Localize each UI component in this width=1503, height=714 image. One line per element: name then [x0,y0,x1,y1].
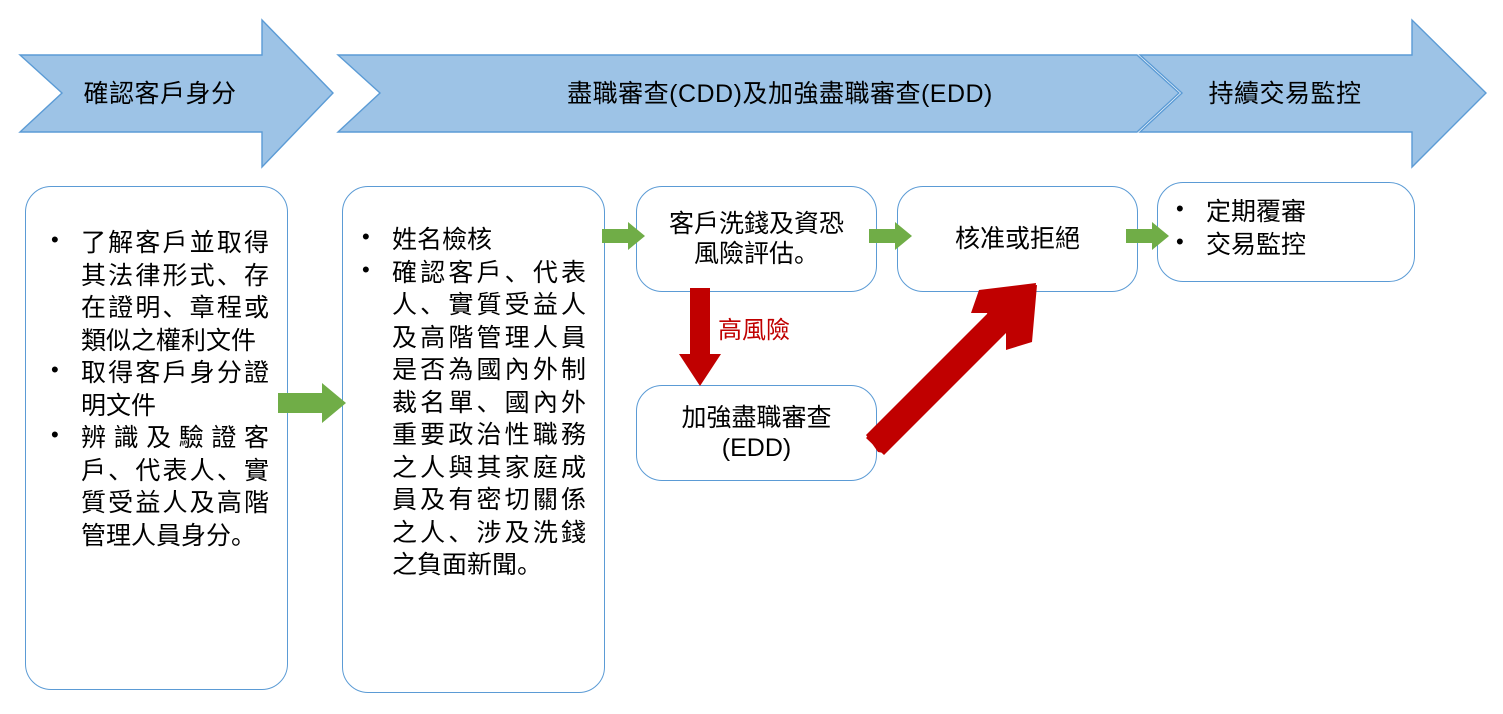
approval-text: 核准或拒絕 [955,224,1080,255]
list-item: 取得客戶身分證明文件 [47,357,269,422]
chevron-label-1: 確認客戶身分 [40,80,280,109]
edd-text: 加強盡職審查 (EDD) [681,403,831,464]
box-edd: 加強盡職審查 (EDD) [636,385,877,481]
screening-bullet-list: 姓名檢核 確認客戶、代表人、實質受益人及高階管理人員是否為國內外制裁名單、國內外… [358,224,586,582]
list-item: 姓名檢核 [358,224,586,257]
list-item: 了解客戶並取得其法律形式、存在證明、章程或類似之權利文件 [47,227,269,357]
green-arrow-screening-to-risk-icon [602,222,646,250]
list-item: 交易監控 [1172,229,1407,262]
list-item: 定期覆審 [1172,196,1407,229]
diagram-canvas: 確認客戶身分 盡職審查(CDD)及加強盡職審查(EDD) 持續交易監控 了解客戶… [0,0,1503,714]
list-item: 辨識及驗證客戶、代表人、實質受益人及高階管理人員身分。 [47,422,269,552]
green-arrow-approval-to-monitoring-icon [1126,222,1170,250]
high-risk-label: 高風險 [718,318,790,344]
box-risk-assessment: 客戶洗錢及資恐 風險評估。 [636,186,877,292]
box-approval: 核准或拒絕 [897,186,1138,292]
red-diagonal-arrow-edd-to-approval-icon [866,280,1046,460]
green-arrow-risk-to-approval-icon [869,222,913,250]
chevron-label-2: 盡職審查(CDD)及加強盡職審查(EDD) [400,80,1160,109]
chevron-label-3: 持續交易監控 [1160,80,1410,109]
risk-assessment-text: 客戶洗錢及資恐 風險評估。 [669,209,844,270]
monitoring-bullet-list: 定期覆審 交易監控 [1172,196,1407,261]
list-item: 確認客戶、代表人、實質受益人及高階管理人員是否為國內外制裁名單、國內外重要政治性… [358,257,586,582]
kyc-bullet-list: 了解客戶並取得其法律形式、存在證明、章程或類似之權利文件 取得客戶身分證明文件 … [47,227,269,552]
green-arrow-kyc-to-screening-icon [278,383,348,423]
